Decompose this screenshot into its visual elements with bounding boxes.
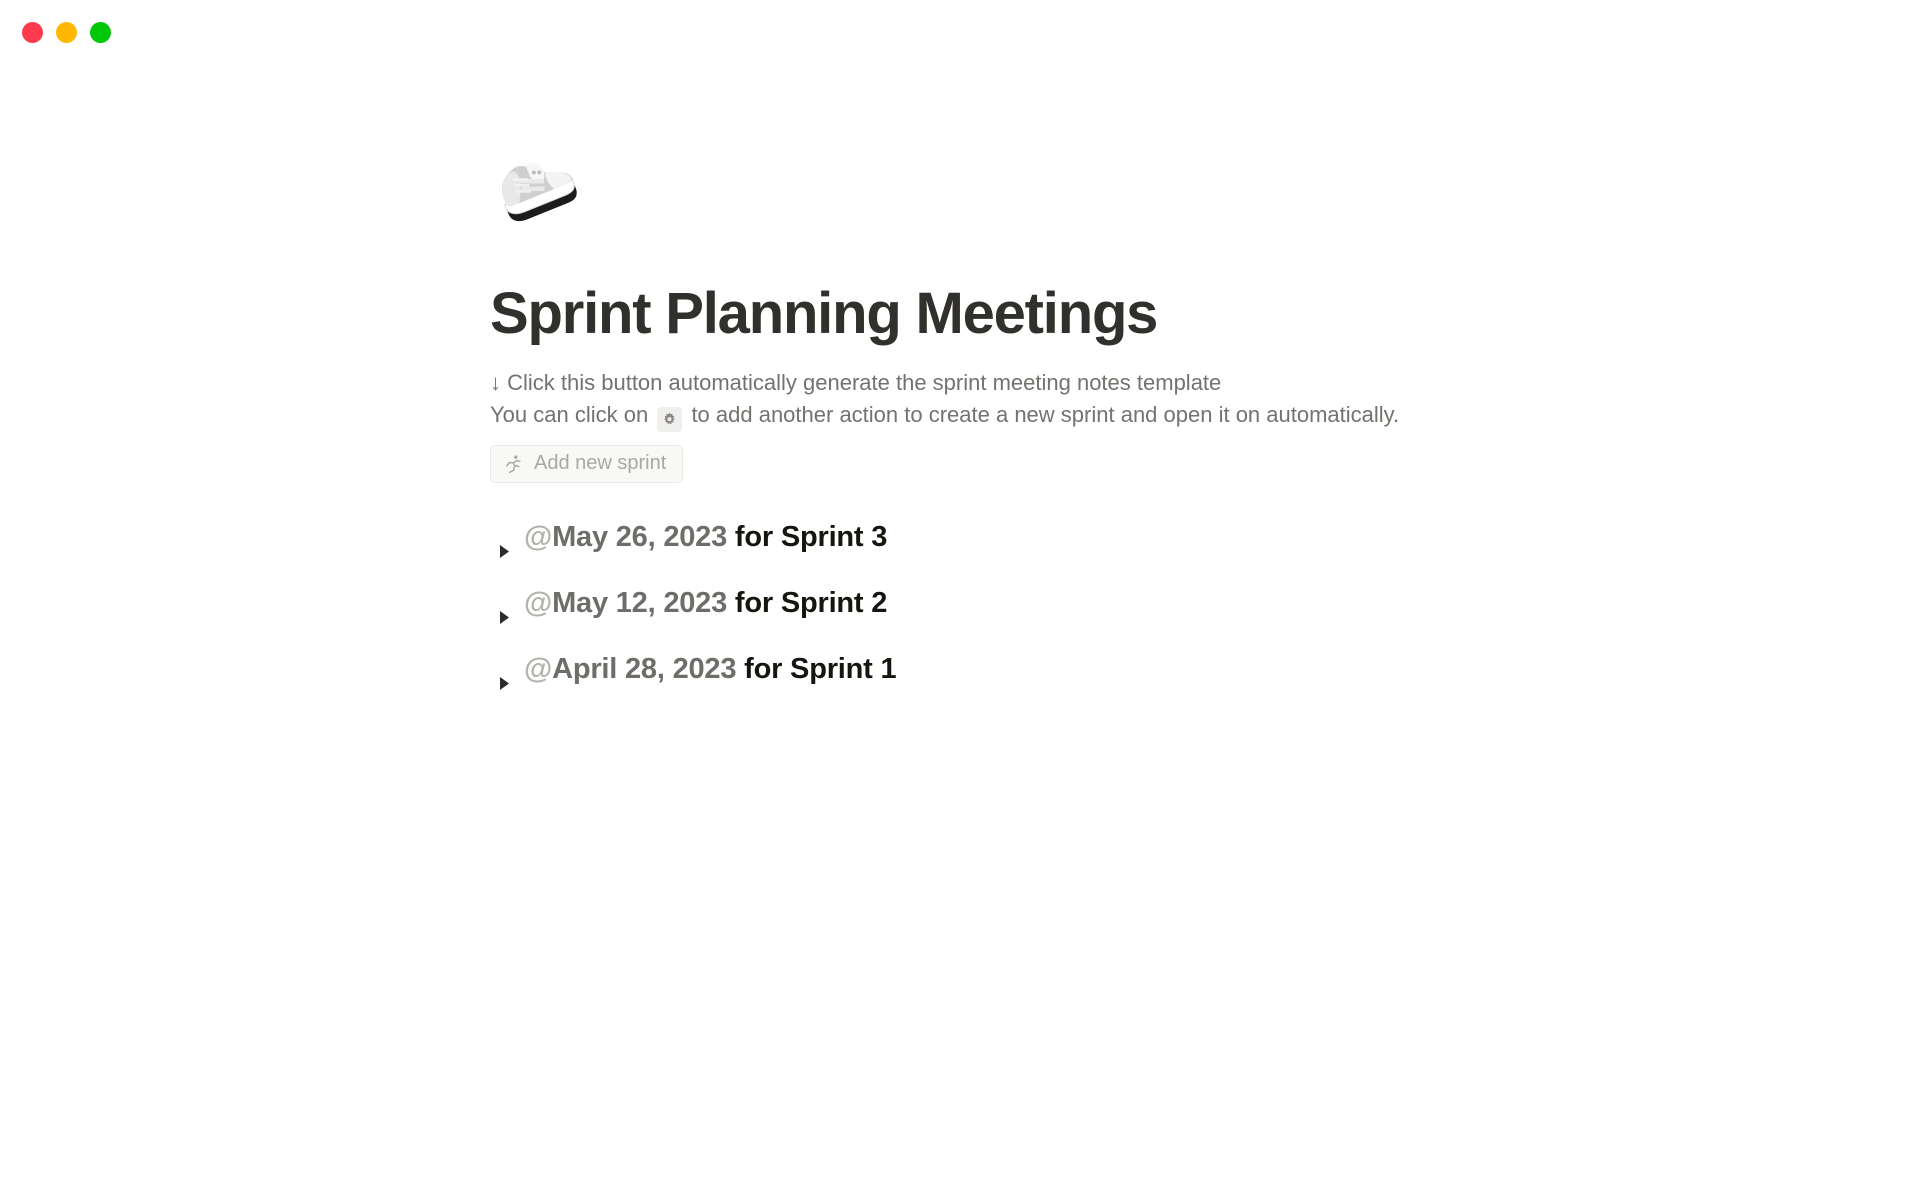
date-mention[interactable]: @April 28, 2023 [524,653,736,685]
mention-at-symbol: @ [524,521,552,553]
running-person-icon [504,454,523,474]
add-new-sprint-button[interactable]: Add new sprint [490,445,683,483]
mention-date: April 28, 2023 [552,653,736,685]
sprint-label: for Sprint 1 [744,653,896,685]
triangle-right-icon[interactable] [490,610,524,625]
description-line-2-prefix: You can click on [490,402,648,427]
mention-at-symbol: @ [524,653,552,685]
page-content: Sprint Planning Meetings ↓ Click this bu… [490,0,1490,717]
toggle-list: @May 26, 2023 for Sprint 3 @May 12, 2023… [490,519,1490,717]
app-window: Sprint Planning Meetings ↓ Click this bu… [0,0,1920,1200]
mention-date: May 12, 2023 [552,587,727,619]
sprint-label: for Sprint 2 [735,587,887,619]
triangle-right-icon[interactable] [490,544,524,559]
window-controls [22,22,111,43]
toggle-item-sprint-1[interactable]: @April 28, 2023 for Sprint 1 [490,651,1490,717]
add-new-sprint-label: Add new sprint [534,452,666,475]
toggle-label: @May 26, 2023 for Sprint 3 [524,519,887,555]
close-window-button[interactable] [22,22,43,43]
sprint-label: for Sprint 3 [735,521,887,553]
description-line-1: ↓ Click this button automatically genera… [490,367,1490,399]
minimize-window-button[interactable] [56,22,77,43]
mention-date: May 26, 2023 [552,521,727,553]
triangle-right-icon[interactable] [490,676,524,691]
toggle-label: @April 28, 2023 for Sprint 1 [524,651,896,687]
description-line-2: You can click on to add another action t… [490,399,1490,432]
maximize-window-button[interactable] [90,22,111,43]
button-row: Add new sprint [490,445,1490,483]
page-title[interactable]: Sprint Planning Meetings [490,282,1490,347]
toggle-label: @May 12, 2023 for Sprint 2 [524,585,887,621]
gear-icon[interactable] [657,407,682,432]
toggle-item-sprint-3[interactable]: @May 26, 2023 for Sprint 3 [490,519,1490,585]
toggle-item-sprint-2[interactable]: @May 12, 2023 for Sprint 2 [490,585,1490,651]
running-shoe-icon[interactable] [490,140,1490,236]
mention-at-symbol: @ [524,587,552,619]
date-mention[interactable]: @May 12, 2023 [524,587,727,619]
description-line-2-suffix: to add another action to create a new sp… [691,402,1399,427]
date-mention[interactable]: @May 26, 2023 [524,521,727,553]
